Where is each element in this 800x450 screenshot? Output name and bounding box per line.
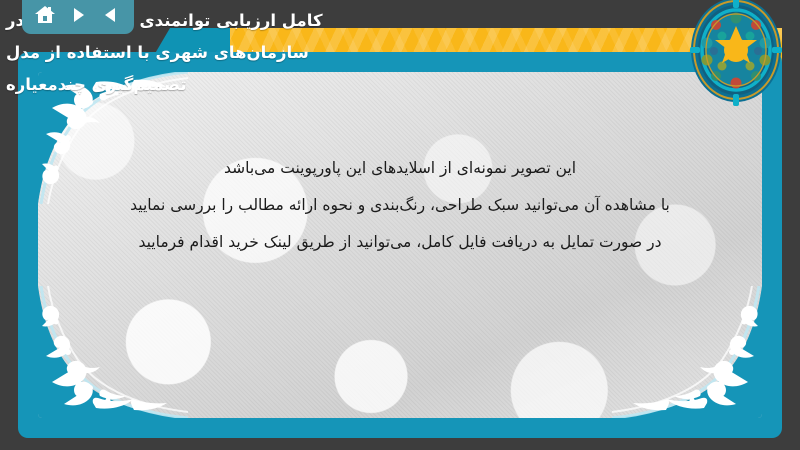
slide-navigation-toolbar	[22, 0, 134, 34]
left-edge-shade	[0, 0, 18, 450]
slide-viewer: این تصویر نمونه‌ای از اسلایدهای این پاور…	[0, 0, 800, 450]
slide-body-text: این تصویر نمونه‌ای از اسلایدهای این پاور…	[90, 150, 710, 261]
corner-ornament-bottom-left	[38, 286, 188, 418]
body-line-2: با مشاهده آن می‌توانید سبک طراحی، رنگ‌بن…	[90, 187, 710, 224]
right-edge-shade	[782, 0, 800, 450]
persian-ornament-medallion-icon	[690, 0, 782, 108]
slide-canvas: این تصویر نمونه‌ای از اسلایدهای این پاور…	[38, 72, 762, 418]
body-line-1: این تصویر نمونه‌ای از اسلایدهای این پاور…	[90, 150, 710, 187]
triangle-left-icon	[102, 6, 120, 24]
next-slide-button[interactable]	[64, 2, 92, 28]
bottom-edge-shade	[0, 438, 800, 450]
home-icon	[34, 5, 56, 25]
slide-frame: این تصویر نمونه‌ای از اسلایدهای این پاور…	[18, 52, 782, 438]
home-button[interactable]	[31, 2, 59, 28]
body-line-3: در صورت تمایل به دریافت فایل کامل، می‌تو…	[90, 224, 710, 261]
corner-ornament-bottom-right	[612, 286, 762, 418]
previous-slide-button[interactable]	[97, 2, 125, 28]
triangle-right-icon	[69, 6, 87, 24]
